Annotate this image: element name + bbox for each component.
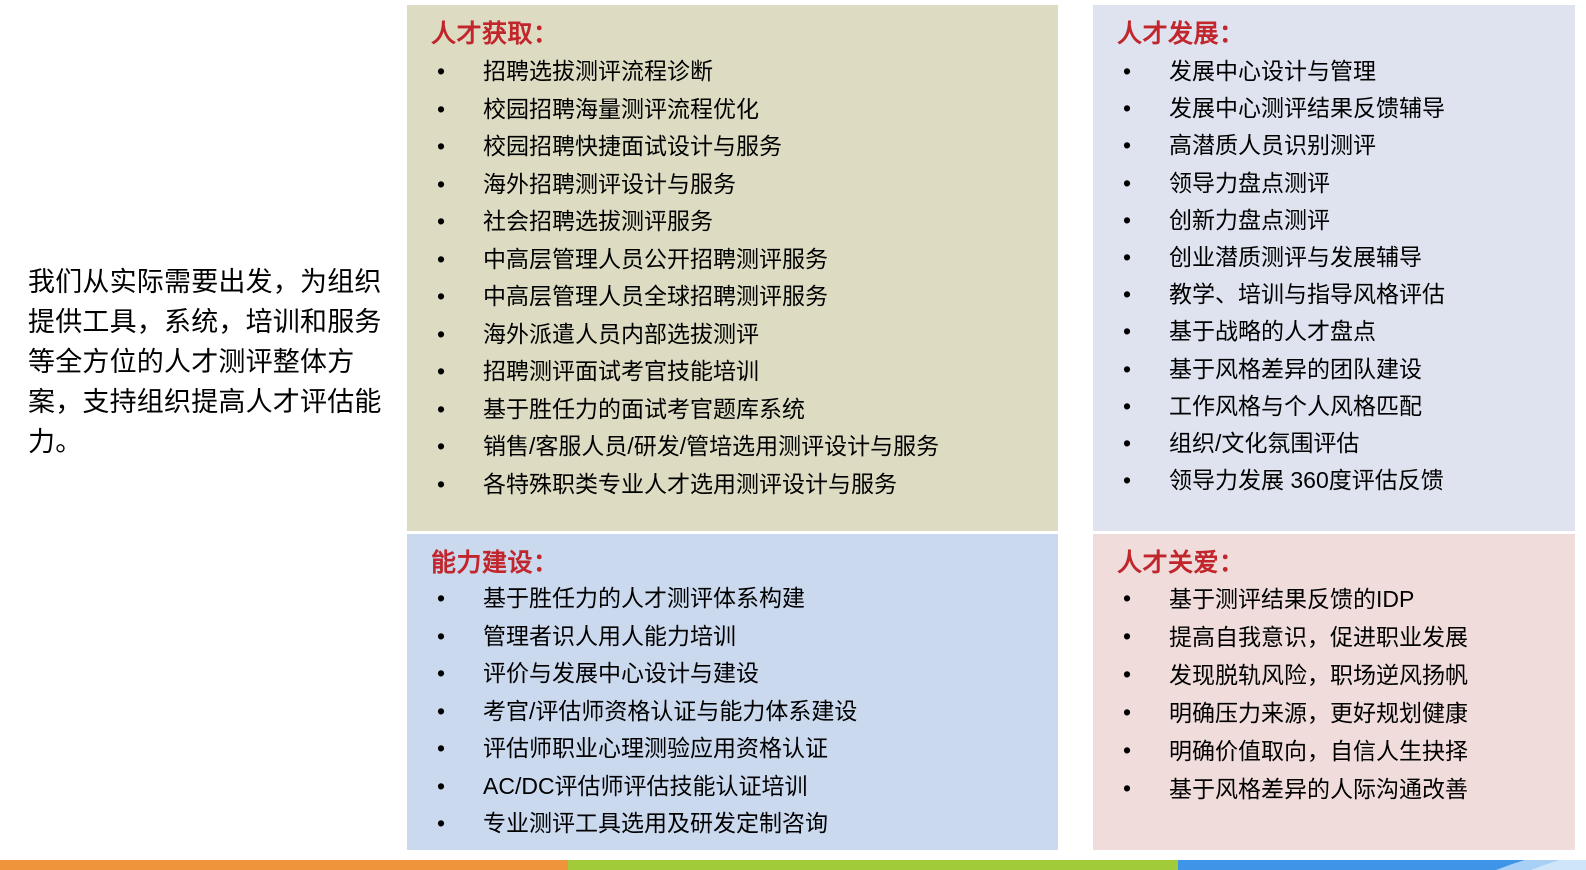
panel-title-talent-acquisition: 人才获取： <box>431 19 1048 49</box>
panel-capability-building: 能力建设： •基于胜任力的人才测评体系构建 •管理者识人用人能力培训 •评价与发… <box>407 534 1058 850</box>
bullet-dot-icon: • <box>437 241 447 279</box>
panel-title-talent-development: 人才发展： <box>1117 19 1565 49</box>
list-item: •工作风格与个人风格匹配 <box>1107 388 1565 425</box>
list-item: •评价与发展中心设计与建设 <box>421 655 1048 693</box>
bullet-dot-icon: • <box>1123 90 1133 128</box>
list-item: •基于风格差异的团队建设 <box>1107 351 1565 388</box>
list-item-label: 领导力盘点测评 <box>1169 170 1330 196</box>
list-item-label: 明确压力来源，更好规划健康 <box>1169 700 1468 726</box>
accent-segment-blue <box>1178 860 1586 870</box>
list-item: •管理者识人用人能力培训 <box>421 618 1048 656</box>
list-item: •明确价值取向，自信人生抉择 <box>1107 732 1565 770</box>
bullet-dot-icon: • <box>437 693 447 731</box>
list-item: •领导力盘点测评 <box>1107 165 1565 202</box>
bullet-dot-icon: • <box>1123 388 1133 426</box>
bullet-dot-icon: • <box>437 91 447 129</box>
list-item: •基于测评结果反馈的IDP <box>1107 580 1565 618</box>
list-item: •校园招聘快捷面试设计与服务 <box>421 128 1048 166</box>
list-item: •领导力发展 360度评估反馈 <box>1107 462 1565 499</box>
list-item-label: 各特殊职类专业人才选用测评设计与服务 <box>483 471 897 497</box>
list-item: •提高自我意识，促进职业发展 <box>1107 618 1565 656</box>
list-item-label: 工作风格与个人风格匹配 <box>1169 393 1422 419</box>
list-item-label: 基于风格差异的团队建设 <box>1169 356 1422 382</box>
bullet-dot-icon: • <box>437 53 447 91</box>
bullet-dot-icon: • <box>437 580 447 618</box>
bullet-dot-icon: • <box>1123 732 1133 770</box>
list-item-label: 创业潜质测评与发展辅导 <box>1169 244 1422 270</box>
list-item-label: 海外派遣人员内部选拔测评 <box>483 321 759 347</box>
list-item-label: 校园招聘海量测评流程优化 <box>483 96 759 122</box>
panel-talent-care: 人才关爱： •基于测评结果反馈的IDP •提高自我意识，促进职业发展 •发现脱轨… <box>1093 534 1575 850</box>
list-item: •发展中心设计与管理 <box>1107 53 1565 90</box>
panel-talent-development: 人才发展： •发展中心设计与管理 •发展中心测评结果反馈辅导 •高潜质人员识别测… <box>1093 5 1575 531</box>
list-item: •社会招聘选拔测评服务 <box>421 203 1048 241</box>
list-item-label: 基于风格差异的人际沟通改善 <box>1169 776 1468 802</box>
list-item-label: 海外招聘测评设计与服务 <box>483 171 736 197</box>
bullet-dot-icon: • <box>437 203 447 241</box>
bullet-dot-icon: • <box>437 805 447 843</box>
list-item-label: 专业测评工具选用及研发定制咨询 <box>483 810 828 836</box>
list-item-label: 中高层管理人员公开招聘测评服务 <box>483 246 828 272</box>
list-item: •基于胜任力的面试考官题库系统 <box>421 391 1048 429</box>
list-item: •创业潜质测评与发展辅导 <box>1107 239 1565 276</box>
list-item: •基于战略的人才盘点 <box>1107 313 1565 350</box>
list-item-label: 招聘测评面试考官技能培训 <box>483 358 759 384</box>
bullet-dot-icon: • <box>1123 580 1133 618</box>
list-item-label: 基于战略的人才盘点 <box>1169 318 1376 344</box>
list-item: •招聘选拔测评流程诊断 <box>421 53 1048 91</box>
list-item-label: 发展中心设计与管理 <box>1169 58 1376 84</box>
list-item: •校园招聘海量测评流程优化 <box>421 91 1048 129</box>
bullet-dot-icon: • <box>437 466 447 504</box>
list-item-label: 创新力盘点测评 <box>1169 207 1330 233</box>
bullet-dot-icon: • <box>437 278 447 316</box>
list-item-label: 社会招聘选拔测评服务 <box>483 208 713 234</box>
bullet-dot-icon: • <box>1123 165 1133 203</box>
bullet-dot-icon: • <box>437 316 447 354</box>
bullet-list-talent-care: •基于测评结果反馈的IDP •提高自我意识，促进职业发展 •发现脱轨风险，职场逆… <box>1107 580 1565 808</box>
list-item: •招聘测评面试考官技能培训 <box>421 353 1048 391</box>
accent-segment-orange <box>0 860 568 870</box>
panel-talent-acquisition: 人才获取： •招聘选拔测评流程诊断 •校园招聘海量测评流程优化 •校园招聘快捷面… <box>407 5 1058 531</box>
list-item-label: 中高层管理人员全球招聘测评服务 <box>483 283 828 309</box>
list-item: •中高层管理人员公开招聘测评服务 <box>421 241 1048 279</box>
list-item-label: 考官/评估师资格认证与能力体系建设 <box>483 698 857 724</box>
bullet-list-capability-building: •基于胜任力的人才测评体系构建 •管理者识人用人能力培训 •评价与发展中心设计与… <box>421 580 1048 843</box>
list-item: •发现脱轨风险，职场逆风扬帆 <box>1107 656 1565 694</box>
bullet-dot-icon: • <box>1123 313 1133 351</box>
bullet-dot-icon: • <box>437 655 447 693</box>
bullet-dot-icon: • <box>1123 656 1133 694</box>
list-item-label: 基于胜任力的人才测评体系构建 <box>483 585 805 611</box>
list-item-label: 教学、培训与指导风格评估 <box>1169 281 1445 307</box>
bullet-dot-icon: • <box>437 768 447 806</box>
list-item: •基于风格差异的人际沟通改善 <box>1107 770 1565 808</box>
list-item: •海外派遣人员内部选拔测评 <box>421 316 1048 354</box>
list-item: •组织/文化氛围评估 <box>1107 425 1565 462</box>
list-item: •专业测评工具选用及研发定制咨询 <box>421 805 1048 843</box>
list-item-label: AC/DC评估师评估技能认证培训 <box>483 773 808 799</box>
list-item-label: 评估师职业心理测验应用资格认证 <box>483 735 828 761</box>
bullet-dot-icon: • <box>1123 694 1133 732</box>
bullet-dot-icon: • <box>1123 618 1133 656</box>
bullet-dot-icon: • <box>1123 425 1133 463</box>
bullet-dot-icon: • <box>437 166 447 204</box>
list-item-label: 校园招聘快捷面试设计与服务 <box>483 133 782 159</box>
list-item-label: 销售/客服人员/研发/管培选用测评设计与服务 <box>483 433 939 459</box>
list-item: •中高层管理人员全球招聘测评服务 <box>421 278 1048 316</box>
list-item: •基于胜任力的人才测评体系构建 <box>421 580 1048 618</box>
accent-segment-green <box>568 860 1178 870</box>
list-item: •高潜质人员识别测评 <box>1107 127 1565 164</box>
list-item-label: 评价与发展中心设计与建设 <box>483 660 759 686</box>
bullet-list-talent-development: •发展中心设计与管理 •发展中心测评结果反馈辅导 •高潜质人员识别测评 •领导力… <box>1107 53 1565 499</box>
bullet-dot-icon: • <box>437 391 447 429</box>
list-item-label: 发展中心测评结果反馈辅导 <box>1169 95 1445 121</box>
list-item: •海外招聘测评设计与服务 <box>421 166 1048 204</box>
bullet-dot-icon: • <box>1123 276 1133 314</box>
bullet-dot-icon: • <box>437 428 447 466</box>
list-item: •发展中心测评结果反馈辅导 <box>1107 90 1565 127</box>
bullet-dot-icon: • <box>1123 239 1133 277</box>
list-item: •AC/DC评估师评估技能认证培训 <box>421 768 1048 806</box>
bullet-list-talent-acquisition: •招聘选拔测评流程诊断 •校园招聘海量测评流程优化 •校园招聘快捷面试设计与服务… <box>421 53 1048 503</box>
bullet-dot-icon: • <box>437 128 447 166</box>
bullet-dot-icon: • <box>1123 770 1133 808</box>
list-item-label: 招聘选拔测评流程诊断 <box>483 58 713 84</box>
panel-title-capability-building: 能力建设： <box>431 548 1048 578</box>
bullet-dot-icon: • <box>437 618 447 656</box>
bullet-dot-icon: • <box>437 353 447 391</box>
bullet-dot-icon: • <box>1123 127 1133 165</box>
list-item: •销售/客服人员/研发/管培选用测评设计与服务 <box>421 428 1048 466</box>
list-item-label: 提高自我意识，促进职业发展 <box>1169 624 1468 650</box>
slide-canvas: 我们从实际需要出发，为组织提供工具，系统，培训和服务等全方位的人才测评整体方案，… <box>0 0 1586 870</box>
list-item-label: 组织/文化氛围评估 <box>1169 430 1359 456</box>
bullet-dot-icon: • <box>1123 351 1133 389</box>
intro-paragraph: 我们从实际需要出发，为组织提供工具，系统，培训和服务等全方位的人才测评整体方案，… <box>28 262 388 462</box>
bullet-dot-icon: • <box>1123 462 1133 500</box>
bottom-accent-bar <box>0 860 1586 870</box>
panel-title-talent-care: 人才关爱： <box>1117 548 1565 578</box>
list-item: •创新力盘点测评 <box>1107 202 1565 239</box>
list-item: •考官/评估师资格认证与能力体系建设 <box>421 693 1048 731</box>
list-item-label: 管理者识人用人能力培训 <box>483 623 736 649</box>
list-item-label: 领导力发展 360度评估反馈 <box>1169 467 1444 493</box>
list-item: •教学、培训与指导风格评估 <box>1107 276 1565 313</box>
bullet-dot-icon: • <box>437 730 447 768</box>
list-item-label: 基于胜任力的面试考官题库系统 <box>483 396 805 422</box>
bullet-dot-icon: • <box>1123 202 1133 240</box>
list-item: •评估师职业心理测验应用资格认证 <box>421 730 1048 768</box>
list-item-label: 基于测评结果反馈的IDP <box>1169 586 1414 612</box>
list-item: •各特殊职类专业人才选用测评设计与服务 <box>421 466 1048 504</box>
list-item-label: 发现脱轨风险，职场逆风扬帆 <box>1169 662 1468 688</box>
list-item-label: 明确价值取向，自信人生抉择 <box>1169 738 1468 764</box>
bullet-dot-icon: • <box>1123 53 1133 91</box>
list-item-label: 高潜质人员识别测评 <box>1169 132 1376 158</box>
list-item: •明确压力来源，更好规划健康 <box>1107 694 1565 732</box>
